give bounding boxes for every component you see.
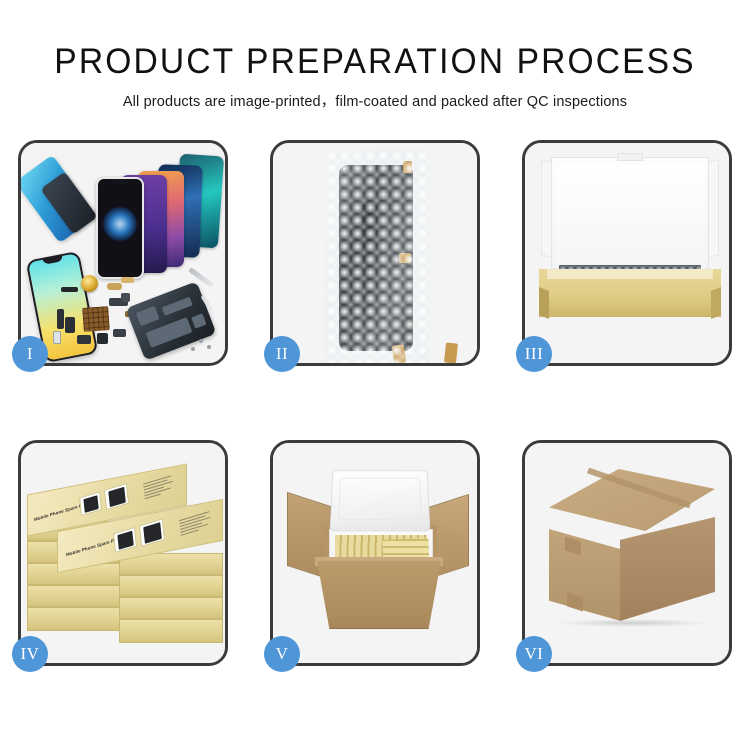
phone-dark-icon — [96, 177, 144, 279]
part-icon — [61, 287, 78, 292]
step-panel-4[interactable]: Mobile Phone Spare Parts Mobile Phone Sp… — [18, 440, 228, 666]
step-badge-3: III — [516, 336, 552, 372]
box-label-lines — [179, 510, 215, 538]
step-image-2 — [273, 143, 477, 363]
step-panel-5[interactable]: V — [270, 440, 480, 666]
phone-fan-group — [81, 155, 225, 267]
carton-top-face — [549, 469, 715, 531]
step-panel-6[interactable]: VI — [522, 440, 732, 666]
foam-lid — [330, 470, 431, 531]
step-image-1 — [21, 143, 225, 363]
step-badge-5: V — [264, 636, 300, 672]
screw-icon — [207, 345, 211, 349]
step-panel-1[interactable]: I — [18, 140, 228, 366]
part-icon — [121, 277, 134, 283]
carton-right-face — [620, 517, 715, 621]
step-panel-3[interactable]: III — [522, 140, 732, 366]
box-label-window — [139, 518, 165, 547]
page-title: PRODUCT PREPARATION PROCESS — [15, 42, 735, 82]
carton-front-wall — [317, 561, 441, 629]
step-badge-6: VI — [516, 636, 552, 672]
box-label-window — [104, 483, 129, 510]
phone-back-shell-icon — [125, 281, 216, 361]
step-image-4: Mobile Phone Spare Parts Mobile Phone Sp… — [21, 443, 225, 663]
page-subtitle: All products are image-printed，film-coat… — [0, 93, 750, 111]
step-image-5 — [273, 443, 477, 663]
part-icon — [53, 331, 61, 344]
part-icon — [77, 335, 91, 344]
plastic-sheen — [325, 149, 429, 363]
process-steps-grid: I II — [18, 140, 732, 666]
carton-shadow — [555, 619, 711, 627]
step-badge-1: I — [12, 336, 48, 372]
bubble-wrap-bag — [325, 149, 429, 363]
screw-icon — [199, 339, 203, 343]
foam-pad — [555, 165, 705, 269]
coil-part-icon — [81, 275, 98, 292]
part-icon — [57, 309, 64, 329]
step-panel-2[interactable]: II — [270, 140, 480, 366]
part-icon — [97, 333, 108, 344]
box-label-lines — [143, 474, 177, 501]
part-icon — [65, 317, 75, 333]
box-label-window — [79, 491, 102, 516]
part-icon — [113, 329, 126, 337]
page-header: PRODUCT PREPARATION PROCESS All products… — [0, 0, 750, 111]
carton-left-face — [549, 529, 621, 621]
step-image-3 — [525, 143, 729, 363]
foam-tab — [617, 153, 643, 161]
step-badge-4: IV — [12, 636, 48, 672]
box-stack: Mobile Phone Spare Parts Mobile Phone Sp… — [27, 461, 223, 655]
box-label-window — [113, 527, 137, 553]
screw-icon — [191, 347, 195, 351]
chip-part-icon — [82, 306, 110, 332]
step-badge-2: II — [264, 336, 300, 372]
part-icon — [107, 283, 122, 290]
flex-cable-icon — [444, 342, 458, 363]
inner-box-edge-left — [539, 287, 549, 319]
step-image-6 — [525, 443, 729, 663]
part-icon — [121, 293, 130, 302]
inner-box-edge-right — [711, 287, 721, 319]
inner-box-rim — [547, 269, 713, 279]
